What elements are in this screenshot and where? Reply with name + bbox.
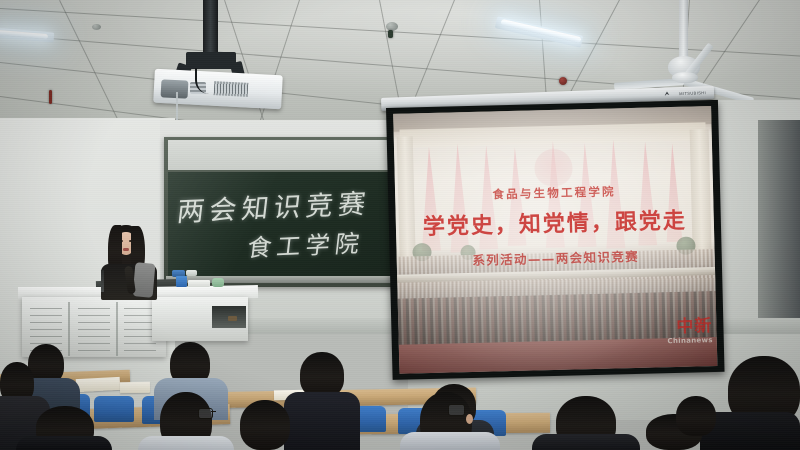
presenter-scarf [133,262,156,298]
screen-brand-logo-icon [664,91,670,96]
blackboard-surface: 两会知识竞赛 食工学院 [168,172,402,276]
blackboard-upper-wall [168,140,402,170]
paper-stack[interactable] [188,280,210,287]
chalk-eraser[interactable] [186,270,197,276]
screen-brand-label: MITSUBISHI [679,90,706,96]
student-head [240,400,290,450]
student-body [138,436,234,450]
projector-vent [214,81,249,97]
projection-screen-frame: 食品与生物工程学院 学党史，知党情，跟党走 系列活动——两会知识竞赛 中新 Ch… [386,100,725,380]
podium-panel-seam [68,302,70,356]
classroom-photo: 两会知识竞赛 食工学院 MITSUBISHI [0,0,800,450]
projector-mount-pole [203,0,218,56]
student-eyeglasses [448,404,465,416]
water-bottle[interactable] [176,276,187,287]
green-object[interactable] [212,278,224,287]
smoke-detector [92,24,101,30]
blackboard-text-line2: 食工学院 [246,223,367,263]
podium-vent-slots [78,305,110,353]
student-body [16,436,112,450]
student-body [400,432,500,450]
open-notebook[interactable] [76,377,121,392]
student-ear [466,414,473,424]
student-body [532,434,640,450]
projection-screen-canvas: 食品与生物工程学院 学党史，知党情，跟党走 系列活动——两会知识竞赛 中新 Ch… [393,106,717,374]
sprinkler-alarm-bell [559,77,567,85]
student-eyeglasses [198,408,213,419]
lectern-small-device[interactable] [228,316,237,321]
podium-panel-seam [116,302,118,356]
classroom-chair[interactable] [94,396,134,422]
projector-bracket [186,52,236,69]
sprinkler-head [49,90,52,104]
slide-watermark: 中新 Chinanews [667,311,713,345]
sprinkler-head [388,30,393,38]
watermark-chinese-text: 中新 [667,311,713,337]
ceiling-fan-rod [679,0,688,60]
student-head [676,396,716,436]
microphone-stand [101,270,104,292]
student-eyeglasses-bridge [211,411,216,412]
ceiling-fan-hub [672,72,698,83]
open-notebook[interactable] [120,382,150,394]
watermark-english-text: Chinanews [667,336,712,345]
presenter-mouth [123,248,129,251]
right-wall-shadow [758,120,800,320]
student-body [284,392,360,450]
